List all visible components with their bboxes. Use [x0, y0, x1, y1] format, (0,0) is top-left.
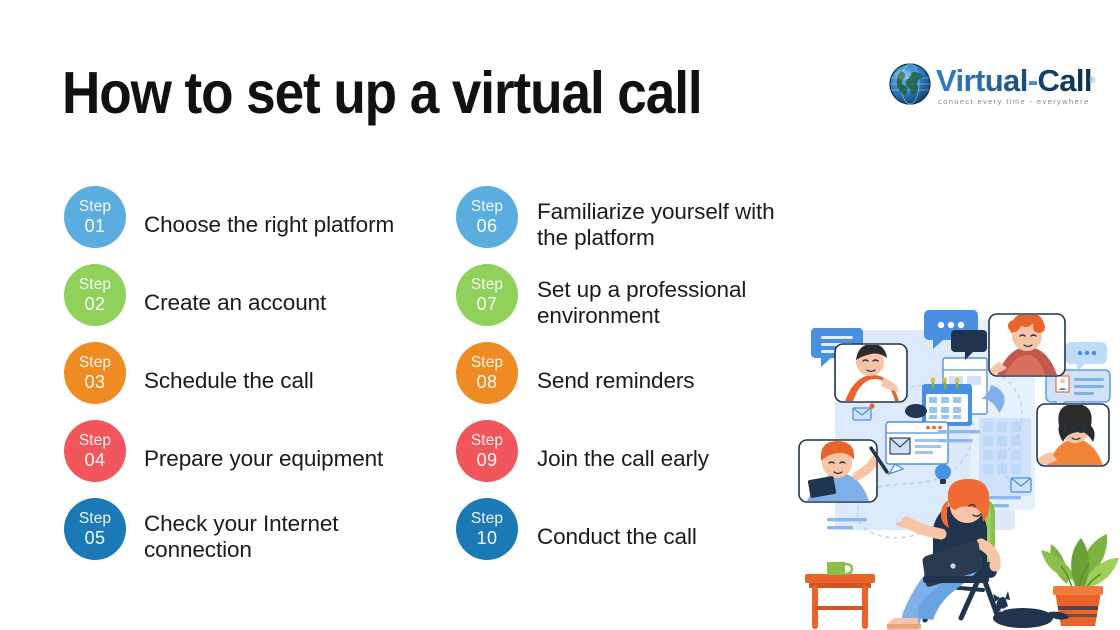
step-number: 04	[85, 449, 106, 471]
infographic-page: How to set up a virtual call	[0, 0, 1120, 630]
step-number: 06	[477, 215, 498, 237]
step-word: Step	[79, 354, 111, 371]
registered-mark-icon: ®	[1089, 63, 1095, 97]
step-word: Step	[471, 354, 503, 371]
step-number: 05	[85, 527, 106, 549]
step-label: Prepare your equipment	[144, 446, 444, 472]
step-number: 07	[477, 293, 498, 315]
logo-tagline: connect every time - everywhere	[938, 97, 1090, 106]
step-item[interactable]: Step 07 Set up a professional environmen…	[456, 264, 786, 342]
step-badge-06: Step 06	[456, 186, 518, 248]
page-title: How to set up a virtual call	[62, 62, 702, 124]
logo-word-dash: -	[1028, 63, 1038, 98]
step-badge-10: Step 10	[456, 498, 518, 560]
step-badge-07: Step 07	[456, 264, 518, 326]
step-badge-09: Step 09	[456, 420, 518, 482]
logo-word-primary: Virtual	[936, 63, 1028, 98]
step-number: 03	[85, 371, 106, 393]
step-item[interactable]: Step 02 Create an account	[64, 264, 444, 342]
step-label: Schedule the call	[144, 368, 444, 394]
step-word: Step	[471, 510, 503, 527]
step-item[interactable]: Step 03 Schedule the call	[64, 342, 444, 420]
step-label: Choose the right platform	[144, 212, 444, 238]
step-item[interactable]: Step 06 Familiarize yourself with the pl…	[456, 186, 786, 264]
step-word: Step	[79, 198, 111, 215]
step-number: 09	[477, 449, 498, 471]
step-label: Check your Internet connection	[144, 511, 444, 563]
video-conference-illustration	[783, 300, 1120, 630]
step-item[interactable]: Step 08 Send reminders	[456, 342, 786, 420]
logo-word-secondary: Call	[1037, 63, 1091, 98]
step-item[interactable]: Step 04 Prepare your equipment	[64, 420, 444, 498]
step-number: 02	[85, 293, 106, 315]
step-badge-01: Step 01	[64, 186, 126, 248]
step-item[interactable]: Step 09 Join the call early	[456, 420, 786, 498]
step-badge-03: Step 03	[64, 342, 126, 404]
step-item[interactable]: Step 10 Conduct the call	[456, 498, 786, 576]
step-number: 08	[477, 371, 498, 393]
step-label: Send reminders	[537, 368, 787, 394]
step-badge-05: Step 05	[64, 498, 126, 560]
step-word: Step	[471, 276, 503, 293]
step-label: Create an account	[144, 290, 444, 316]
step-item[interactable]: Step 01 Choose the right platform	[64, 186, 444, 264]
globe-icon	[888, 62, 932, 106]
step-word: Step	[79, 510, 111, 527]
step-label: Set up a professional environment	[537, 277, 787, 329]
steps-column-right: Step 06 Familiarize yourself with the pl…	[456, 186, 786, 576]
step-label: Join the call early	[537, 446, 787, 472]
steps-column-left: Step 01 Choose the right platform Step 0…	[64, 186, 444, 576]
step-word: Step	[471, 432, 503, 449]
step-label: Familiarize yourself with the platform	[537, 199, 787, 251]
step-word: Step	[79, 276, 111, 293]
step-word: Step	[471, 198, 503, 215]
step-number: 01	[85, 215, 106, 237]
step-badge-08: Step 08	[456, 342, 518, 404]
step-number: 10	[477, 527, 498, 549]
step-word: Step	[79, 432, 111, 449]
logo-wordmark: Virtual-Call®	[936, 64, 1092, 98]
brand-logo[interactable]: Virtual-Call® connect every time - every…	[888, 60, 1080, 112]
step-badge-04: Step 04	[64, 420, 126, 482]
step-badge-02: Step 02	[64, 264, 126, 326]
step-label: Conduct the call	[537, 524, 787, 550]
step-item[interactable]: Step 05 Check your Internet connection	[64, 498, 444, 576]
